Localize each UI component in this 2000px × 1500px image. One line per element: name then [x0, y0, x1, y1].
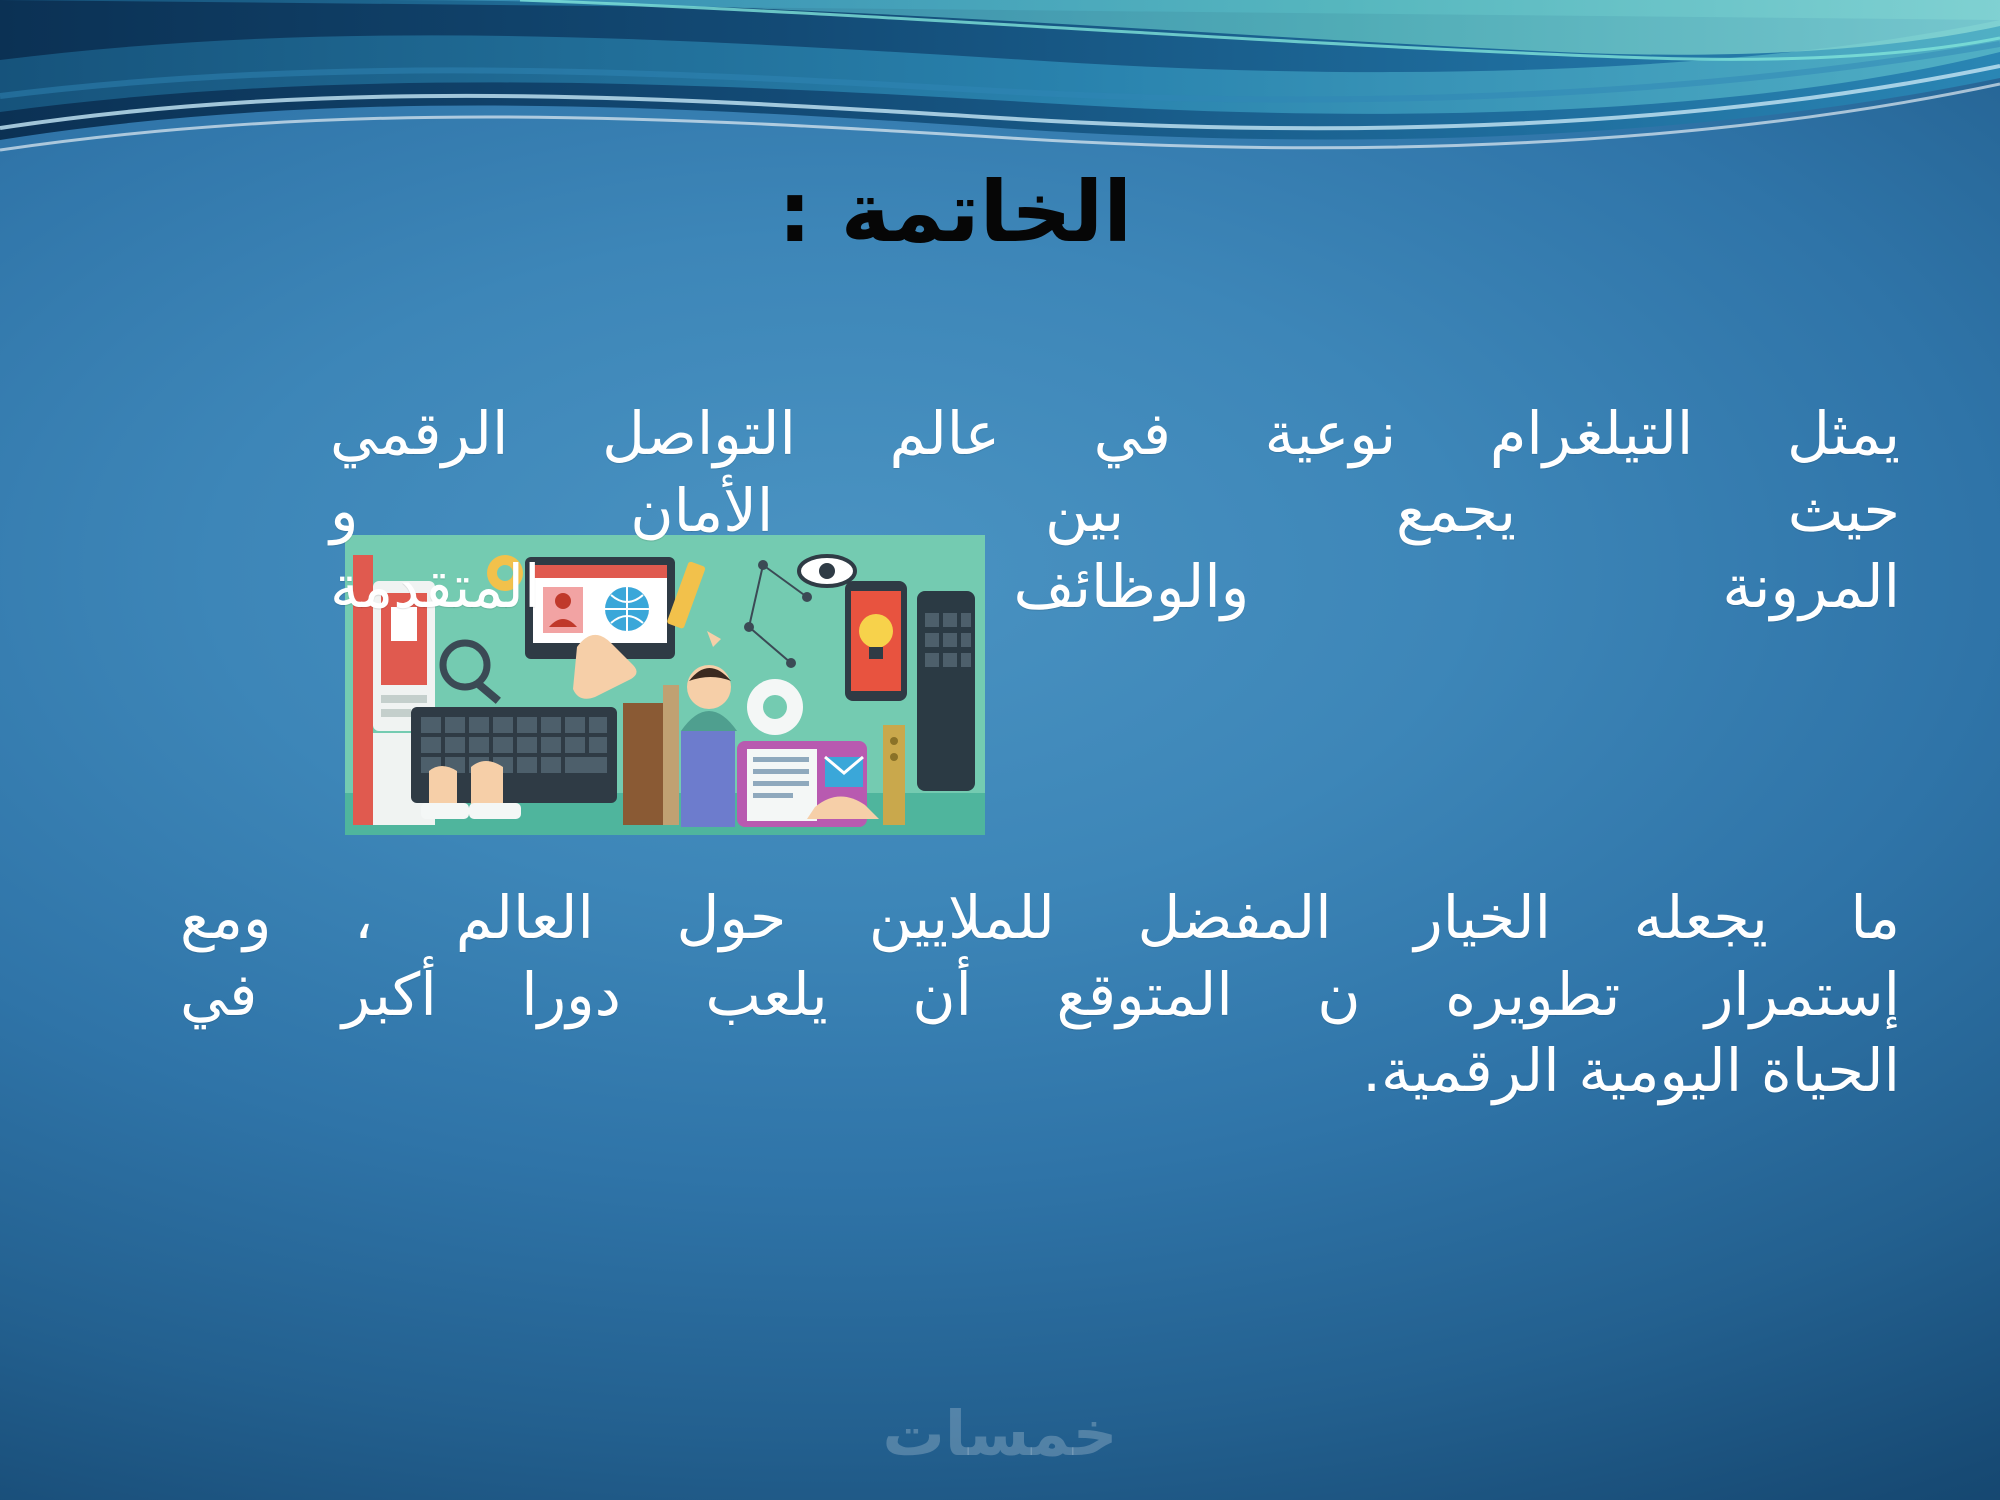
paragraph-outro-line-2: إستمرار تطويره ن المتوقع أن يلعب دورا أك…	[180, 957, 1900, 1034]
paragraph-outro-line-3: الحياة اليومية الرقمية.	[180, 1033, 1900, 1110]
watermark: خمسات	[0, 1397, 2000, 1470]
paragraph-outro-line-1: ما يجعله الخيار المفضل للملايين حول العا…	[180, 880, 1900, 957]
paragraph-intro-line-1: يمثل التيلغرام نوعية في عالم التواصل الر…	[330, 396, 1900, 473]
presentation-slide: الخاتمة :	[0, 0, 2000, 1500]
paragraph-intro: يمثل التيلغرام نوعية في عالم التواصل الر…	[330, 396, 1900, 626]
paragraph-outro: ما يجعله الخيار المفضل للملايين حول العا…	[180, 880, 1900, 1110]
slide-title-container: الخاتمة :	[0, 168, 2000, 256]
paragraph-intro-line-3: المرونة والوظائف المتقدمة	[330, 549, 1900, 626]
paragraph-intro-line-2: حيث يجمع بين الأمان و	[330, 473, 1900, 550]
page-title: الخاتمة :	[778, 168, 1132, 256]
